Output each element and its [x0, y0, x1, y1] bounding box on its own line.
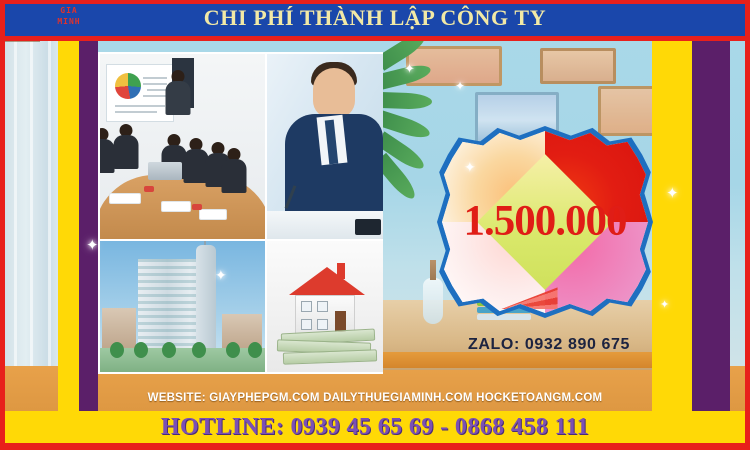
poster-canvas: GIA MINH CHI PHÍ THÀNH LẬP CÔNG TY	[0, 0, 750, 450]
sparkle-icon: ✦	[455, 80, 465, 92]
calculator	[355, 219, 381, 235]
page-title: CHI PHÍ THÀNH LẬP CÔNG TY	[150, 0, 600, 36]
sparkle-icon: ✦	[660, 300, 669, 311]
ground	[100, 348, 265, 372]
paper-document	[162, 202, 190, 211]
banknote-stack	[283, 349, 377, 364]
collage-image-house-on-money	[267, 241, 383, 372]
wall-picture-frame	[540, 48, 616, 84]
logo-line-1: GIA	[34, 5, 104, 16]
collage-image-businessman-writing	[267, 54, 383, 239]
pie-chart-icon	[115, 73, 141, 99]
desk-edge	[380, 352, 680, 368]
laptop	[148, 162, 182, 180]
collage-image-business-meeting	[100, 54, 265, 239]
left-purple-stripe	[79, 41, 98, 411]
bottom-red-rule	[0, 443, 750, 450]
photo-collage	[98, 52, 383, 374]
logo-line-2: MINH	[34, 16, 104, 27]
presentation-chart-screen	[106, 64, 174, 122]
red-folder	[144, 186, 154, 192]
right-purple-stripe	[692, 41, 730, 411]
sparkle-icon: ✦	[404, 62, 415, 75]
sparkle-icon: ✦	[86, 238, 99, 253]
person-head	[313, 68, 355, 118]
right-yellow-stripe	[652, 41, 692, 411]
price-value: 1.500.000	[437, 197, 653, 246]
paper-document	[200, 210, 226, 219]
sparkle-icon: ✦	[215, 268, 227, 282]
frame-right	[745, 0, 750, 450]
frame-top	[0, 0, 750, 4]
sparkle-icon: ✦	[666, 186, 679, 201]
collage-image-office-building	[100, 241, 265, 372]
tower-turret	[196, 245, 216, 351]
zalo-contact[interactable]: ZALO: 0932 890 675	[404, 336, 694, 354]
price-badge: 1.500.000	[437, 126, 653, 318]
house-roof	[289, 267, 365, 295]
header-red-rule	[0, 36, 750, 41]
frame-left	[0, 0, 5, 450]
red-folder	[192, 204, 202, 210]
website-list[interactable]: WEBSITE: GIAYPHEPGM.COM DAILYTHUEGIAMINH…	[60, 392, 690, 404]
hotline-text[interactable]: HOTLINE: 0939 45 65 69 - 0868 458 111	[0, 414, 750, 441]
paper-document	[110, 194, 140, 203]
company-logo: GIA MINH	[34, 5, 104, 27]
sparkle-icon: ✦	[464, 160, 476, 174]
